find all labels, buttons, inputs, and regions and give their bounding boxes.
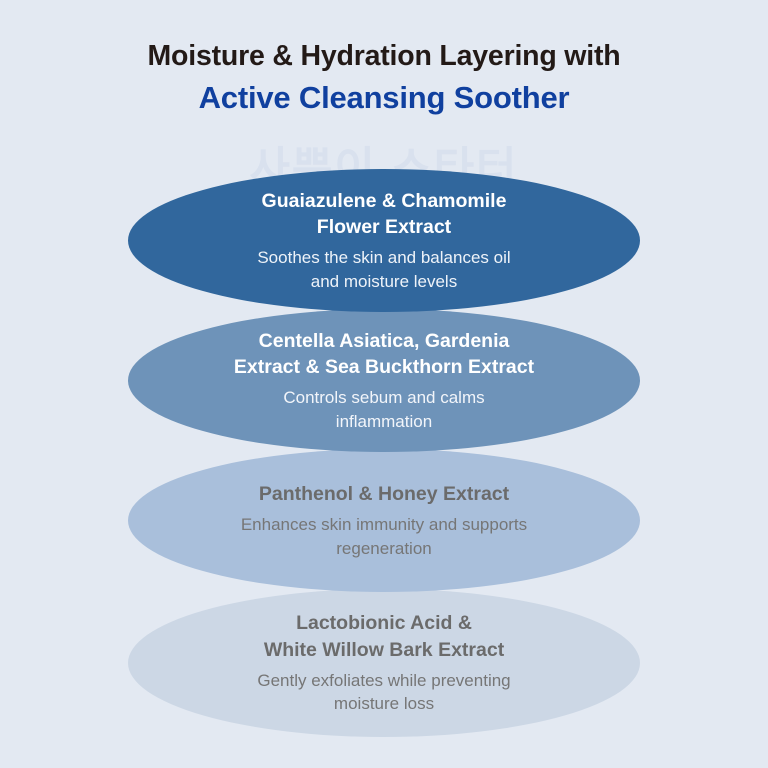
layer-1-title: Guaiazulene & Chamomile Flower Extract bbox=[262, 188, 507, 241]
layer-4-title: Lactobionic Acid & White Willow Bark Ext… bbox=[264, 610, 504, 663]
layer-3-desc-line1: Enhances skin immunity and supports bbox=[241, 513, 527, 536]
layer-3-title-line1: Panthenol & Honey Extract bbox=[259, 481, 509, 507]
ingredient-layer-4[interactable]: Lactobionic Acid & White Willow Bark Ext… bbox=[128, 589, 640, 737]
layer-1-title-line1: Guaiazulene & Chamomile bbox=[262, 188, 507, 214]
layer-3-title: Panthenol & Honey Extract bbox=[259, 481, 509, 507]
page-title: Moisture & Hydration Layering with Activ… bbox=[0, 38, 768, 120]
layer-2-title: Centella Asiatica, Gardenia Extract & Se… bbox=[234, 328, 534, 381]
layer-3-description: Enhances skin immunity and supports rege… bbox=[241, 513, 527, 560]
layer-1-description: Soothes the skin and balances oil and mo… bbox=[257, 246, 510, 293]
layer-4-description: Gently exfoliates while preventing moist… bbox=[257, 669, 510, 716]
layer-2-description: Controls sebum and calms inflammation bbox=[283, 386, 484, 433]
layer-1-title-line2: Flower Extract bbox=[262, 214, 507, 240]
title-line-product-name: Active Cleansing Soother bbox=[0, 76, 768, 120]
layer-2-title-line1: Centella Asiatica, Gardenia bbox=[234, 328, 534, 354]
layer-1-desc-line2: and moisture levels bbox=[257, 270, 510, 293]
layer-4-title-line1: Lactobionic Acid & bbox=[264, 610, 504, 636]
ingredient-layer-2[interactable]: Centella Asiatica, Gardenia Extract & Se… bbox=[128, 309, 640, 452]
layer-2-desc-line1: Controls sebum and calms bbox=[283, 386, 484, 409]
layer-1-desc-line1: Soothes the skin and balances oil bbox=[257, 246, 510, 269]
layer-4-desc-line2: moisture loss bbox=[257, 692, 510, 715]
layer-4-title-line2: White Willow Bark Extract bbox=[264, 637, 504, 663]
layer-2-desc-line2: inflammation bbox=[283, 410, 484, 433]
infographic-canvas: 사뿐이 스타터 Moisture & Hydration Layering wi… bbox=[0, 0, 768, 768]
layer-4-desc-line1: Gently exfoliates while preventing bbox=[257, 669, 510, 692]
ingredient-layer-1[interactable]: Guaiazulene & Chamomile Flower Extract S… bbox=[128, 169, 640, 312]
ingredient-layer-3[interactable]: Panthenol & Honey Extract Enhances skin … bbox=[128, 449, 640, 592]
layer-3-desc-line2: regeneration bbox=[241, 537, 527, 560]
title-line-primary: Moisture & Hydration Layering with bbox=[0, 38, 768, 76]
layer-2-title-line2: Extract & Sea Buckthorn Extract bbox=[234, 354, 534, 380]
